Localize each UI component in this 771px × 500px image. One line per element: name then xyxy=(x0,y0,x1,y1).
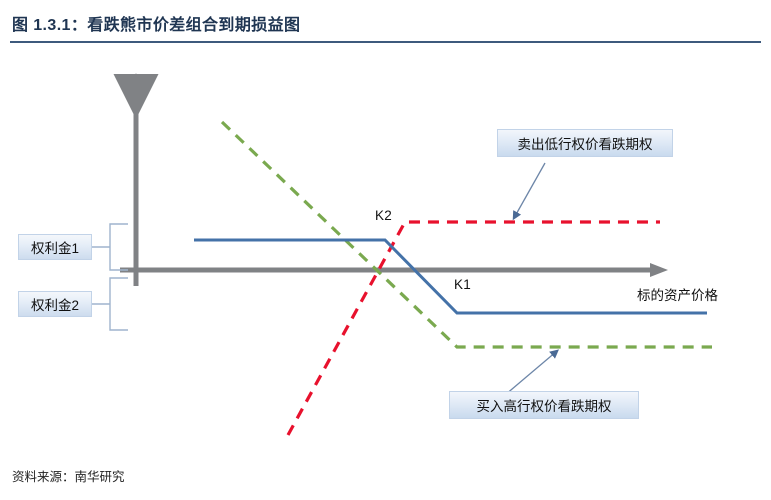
premium-bracket-1 xyxy=(110,224,128,270)
figure-root: 图 1.3.1：看跌熊市价差组合到期损益图 xyxy=(0,0,771,500)
callout-buy-high-strike-put: 买入高行权价看跌期权 xyxy=(449,391,639,419)
callout-sell-low-strike-put: 卖出低行权价看跌期权 xyxy=(497,129,673,157)
figure-header: 图 1.3.1：看跌熊市价差组合到期损益图 xyxy=(0,0,771,46)
premium-label-2: 权利金2 xyxy=(18,291,92,317)
callout-arrow-buy xyxy=(505,351,557,395)
strike-label-k2: K2 xyxy=(375,208,392,223)
callout-arrow-sell xyxy=(514,163,545,218)
y-axis-arrowhead xyxy=(130,73,142,88)
page-title: 图 1.3.1：看跌熊市价差组合到期损益图 xyxy=(12,11,300,35)
x-axis-arrowhead xyxy=(650,263,668,277)
premium-bracket-2 xyxy=(110,278,128,330)
payoff-diagram xyxy=(0,46,771,466)
series-combined-payoff xyxy=(194,240,707,313)
header-divider xyxy=(10,41,761,43)
x-axis-label: 标的资产价格 xyxy=(637,284,718,304)
strike-label-k1: K1 xyxy=(454,277,471,292)
source-note: 资料来源：南华研究 xyxy=(12,466,125,485)
premium-label-1: 权利金1 xyxy=(18,234,92,260)
